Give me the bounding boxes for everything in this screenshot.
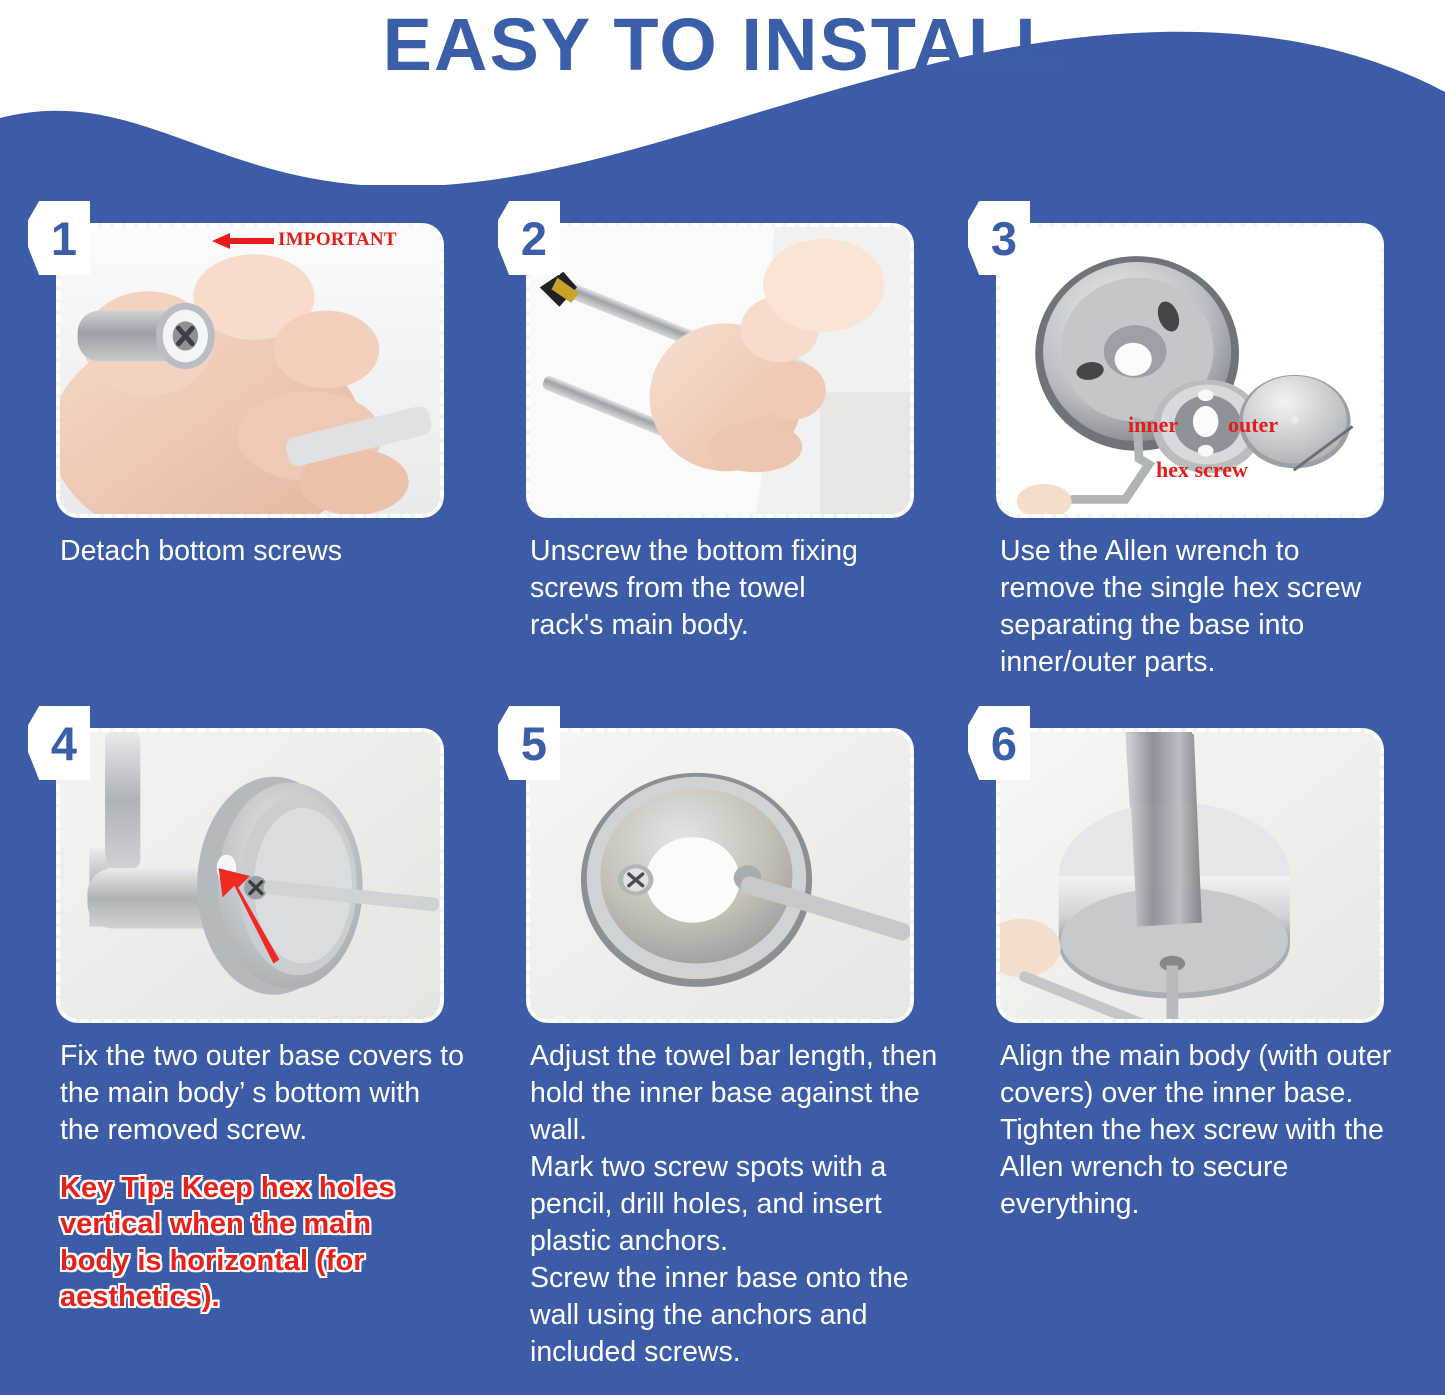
step-number-badge-3: 3 (968, 201, 1030, 275)
step-caption-1: Detach bottom screws (60, 533, 480, 570)
caption-line: Detach bottom screws (60, 533, 480, 570)
step-number-badge-2: 2 (498, 201, 560, 275)
step-number-label: 6 (968, 706, 1030, 780)
key-tip-line: aesthetics). (60, 1279, 470, 1315)
step-number-badge-6: 6 (968, 706, 1030, 780)
caption-line: Align the main body (with outer (1000, 1038, 1420, 1075)
photo-illustration-outer-cover-on-body (60, 732, 440, 1019)
caption-line: Unscrew the bottom fixing (530, 533, 950, 570)
caption-line: separating the base into (1000, 607, 1420, 644)
step-number-badge-1: 1 (28, 201, 90, 275)
step-number-badge-4: 4 (28, 706, 90, 780)
caption-line: remove the single hex screw (1000, 570, 1420, 607)
step-number-label: 1 (28, 201, 90, 275)
caption-line: covers) over the inner base. (1000, 1075, 1420, 1112)
caption-line: everything. (1000, 1186, 1420, 1223)
caption-line: Adjust the towel bar length, then (530, 1038, 950, 1075)
step-card-3: 3 (960, 185, 1430, 690)
step-card-2: 2 (490, 185, 960, 690)
step-number-label: 5 (498, 706, 560, 780)
caption-line: wall using the anchors and (530, 1297, 950, 1334)
step-card-1: 1 (20, 185, 490, 690)
step-photo-2 (526, 223, 914, 518)
caption-line: Allen wrench to secure (1000, 1149, 1420, 1186)
step-number-label: 2 (498, 201, 560, 275)
key-tip-line: vertical when the main (60, 1206, 470, 1242)
step-caption-2: Unscrew the bottom fixing screws from th… (530, 533, 950, 644)
important-annotation: IMPORTANT (212, 229, 397, 251)
caption-line: pencil, drill holes, and insert (530, 1186, 950, 1223)
caption-line: screws from the towel (530, 570, 950, 607)
step-number-label: 4 (28, 706, 90, 780)
steps-grid: 1 (0, 185, 1445, 1395)
photo-illustration-screwdriver-tube (530, 227, 910, 514)
step-photo-1 (56, 223, 444, 518)
header-banner: EASY TO INSTALL (0, 0, 1445, 185)
caption-line: the removed screw. (60, 1112, 480, 1149)
step-caption-3: Use the Allen wrench to remove the singl… (1000, 533, 1420, 681)
photo-illustration-inner-base-on-wall (530, 732, 910, 1019)
caption-line: rack's main body. (530, 607, 950, 644)
outer-annotation: outer (1228, 412, 1278, 438)
step-photo-6 (996, 728, 1384, 1023)
step-card-6: 6 (960, 690, 1430, 1390)
caption-line: Mark two screw spots with a (530, 1149, 950, 1186)
caption-line: the main body’ s bottom with (60, 1075, 480, 1112)
caption-line: plastic anchors. (530, 1223, 950, 1260)
step-photo-4 (56, 728, 444, 1023)
step-caption-6: Align the main body (with outer covers) … (1000, 1038, 1420, 1223)
caption-line: wall. (530, 1112, 950, 1149)
key-tip-line: body is horizontal (for (60, 1243, 470, 1279)
photo-illustration-assembled-base-wrench (1000, 732, 1380, 1019)
inner-annotation: inner (1128, 412, 1178, 438)
red-arrow-icon (212, 233, 276, 249)
step-card-4: 4 (20, 690, 490, 1390)
step-caption-5: Adjust the towel bar length, then hold t… (530, 1038, 950, 1371)
caption-line: Fix the two outer base covers to (60, 1038, 480, 1075)
step-number-label: 3 (968, 201, 1030, 275)
step-card-5: 5 (490, 690, 960, 1390)
key-tip-callout: Key Tip: Keep hex holes vertical when th… (60, 1170, 470, 1315)
caption-line: Use the Allen wrench to (1000, 533, 1420, 570)
photo-illustration-hands-screw (60, 227, 440, 514)
caption-line: Tighten the hex screw with the (1000, 1112, 1420, 1149)
caption-line: Screw the inner base onto the (530, 1260, 950, 1297)
hex-screw-annotation: hex screw (1156, 457, 1248, 483)
caption-line: inner/outer parts. (1000, 644, 1420, 681)
key-tip-line: Key Tip: Keep hex holes (60, 1170, 470, 1206)
caption-line: hold the inner base against the (530, 1075, 950, 1112)
step-photo-5 (526, 728, 914, 1023)
caption-line: included screws. (530, 1334, 950, 1371)
step-caption-4: Fix the two outer base covers to the mai… (60, 1038, 480, 1149)
step-number-badge-5: 5 (498, 706, 560, 780)
page-title: EASY TO INSTALL (0, 2, 1445, 87)
important-label-text: IMPORTANT (278, 229, 397, 250)
